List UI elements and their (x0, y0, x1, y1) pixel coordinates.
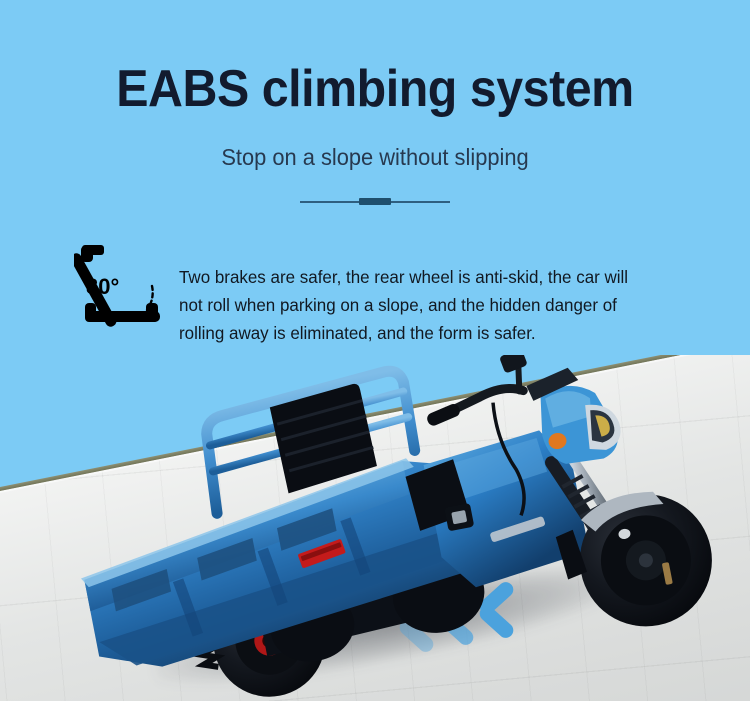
svg-text:30°: 30° (86, 274, 119, 299)
divider-center-nub (359, 198, 391, 205)
page-title: EABS climbing system (26, 58, 724, 120)
cargo-tricycle-on-slope-photo (0, 355, 750, 701)
page-subtitle: Stop on a slope without slipping (19, 141, 732, 173)
section-divider (300, 196, 450, 208)
feature-description: Two brakes are safer, the rear wheel is … (179, 263, 643, 347)
promo-banner: EABS climbing system Stop on a slope wit… (0, 0, 750, 701)
cargo-tricycle (0, 355, 750, 701)
angle-30-degrees-icon: 30° (74, 237, 178, 341)
